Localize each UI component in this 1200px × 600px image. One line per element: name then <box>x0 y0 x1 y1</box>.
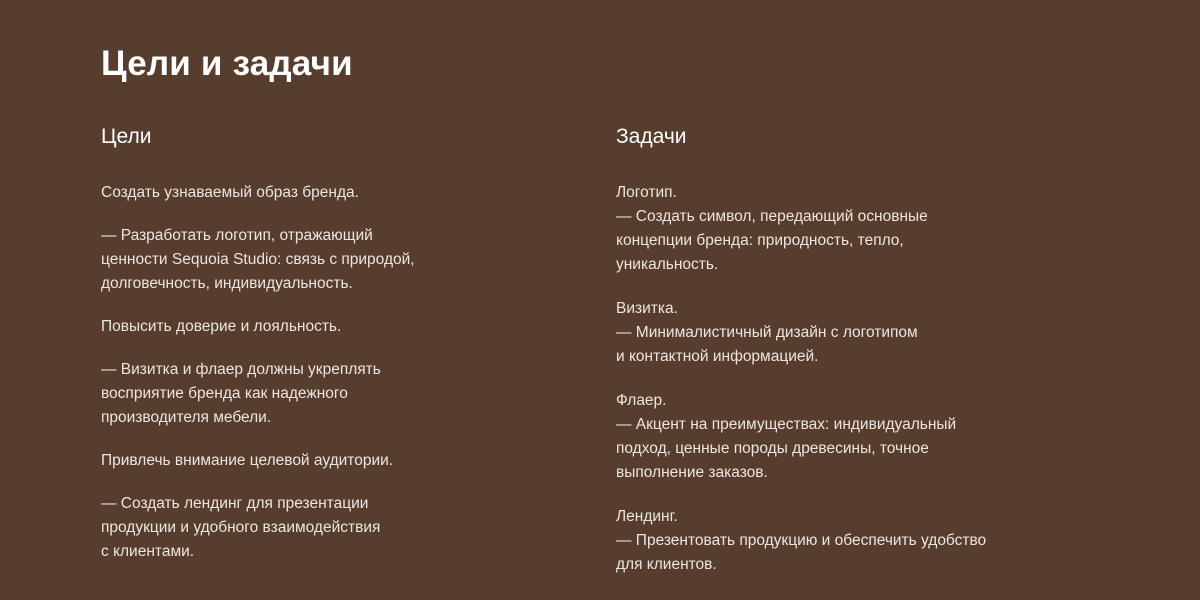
tasks-line: выполнение заказов. <box>616 461 1116 485</box>
slide: Цели и задачи Цели Создать узнаваемый об… <box>0 0 1200 600</box>
goals-line: — Разработать логотип, отражающий <box>101 224 561 248</box>
goals-line: долговечность, индивидуальность. <box>101 272 561 296</box>
goals-block-4: — Визитка и флаер должны укреплять воспр… <box>101 358 561 430</box>
tasks-line: Флаер. <box>616 389 1116 413</box>
tasks-line: — Презентовать продукцию и обеспечить уд… <box>616 529 1116 553</box>
goals-block-1: Создать узнаваемый образ бренда. <box>101 181 561 205</box>
tasks-line: Лендинг. <box>616 505 1116 529</box>
goals-block-3: Повысить доверие и лояльность. <box>101 315 561 339</box>
tasks-line: — Минималистичный дизайн с логотипом <box>616 321 1116 345</box>
tasks-line: Логотип. <box>616 181 1116 205</box>
tasks-block-businesscard: Визитка. — Минималистичный дизайн с лого… <box>616 297 1116 369</box>
goals-line: ценности Sequoia Studio: связь с природо… <box>101 248 561 272</box>
goals-line: Привлечь внимание целевой аудитории. <box>101 449 561 473</box>
goals-line: Повысить доверие и лояльность. <box>101 315 561 339</box>
column-goals: Цели Создать узнаваемый образ бренда. — … <box>101 124 561 564</box>
tasks-line: подход, ценные породы древесины, точное <box>616 437 1116 461</box>
goals-line: — Создать лендинг для презентации <box>101 492 561 516</box>
tasks-block-logo: Логотип. — Создать символ, передающий ос… <box>616 181 1116 277</box>
column-tasks: Задачи Логотип. — Создать символ, переда… <box>616 124 1116 597</box>
tasks-line: — Акцент на преимуществах: индивидуальны… <box>616 413 1116 437</box>
column-goals-heading: Цели <box>101 124 561 149</box>
tasks-block-flyer: Флаер. — Акцент на преимуществах: индиви… <box>616 389 1116 485</box>
goals-line: продукции и удобного взаимодействия <box>101 516 561 540</box>
goals-line: Создать узнаваемый образ бренда. <box>101 181 561 205</box>
goals-block-6: — Создать лендинг для презентации продук… <box>101 492 561 564</box>
tasks-line: концепции бренда: природность, тепло, <box>616 229 1116 253</box>
goals-block-2: — Разработать логотип, отражающий ценнос… <box>101 224 561 296</box>
goals-line: производителя мебели. <box>101 406 561 430</box>
page-title: Цели и задачи <box>101 44 353 84</box>
goals-line: — Визитка и флаер должны укреплять <box>101 358 561 382</box>
tasks-line: для клиентов. <box>616 553 1116 577</box>
tasks-block-landing: Лендинг. — Презентовать продукцию и обес… <box>616 505 1116 577</box>
tasks-line: Визитка. <box>616 297 1116 321</box>
goals-block-5: Привлечь внимание целевой аудитории. <box>101 449 561 473</box>
tasks-line: и контактной информацией. <box>616 345 1116 369</box>
tasks-line: — Создать символ, передающий основные <box>616 205 1116 229</box>
goals-line: восприятие бренда как надежного <box>101 382 561 406</box>
tasks-line: уникальность. <box>616 253 1116 277</box>
goals-line: с клиентами. <box>101 540 561 564</box>
column-tasks-heading: Задачи <box>616 124 1116 149</box>
